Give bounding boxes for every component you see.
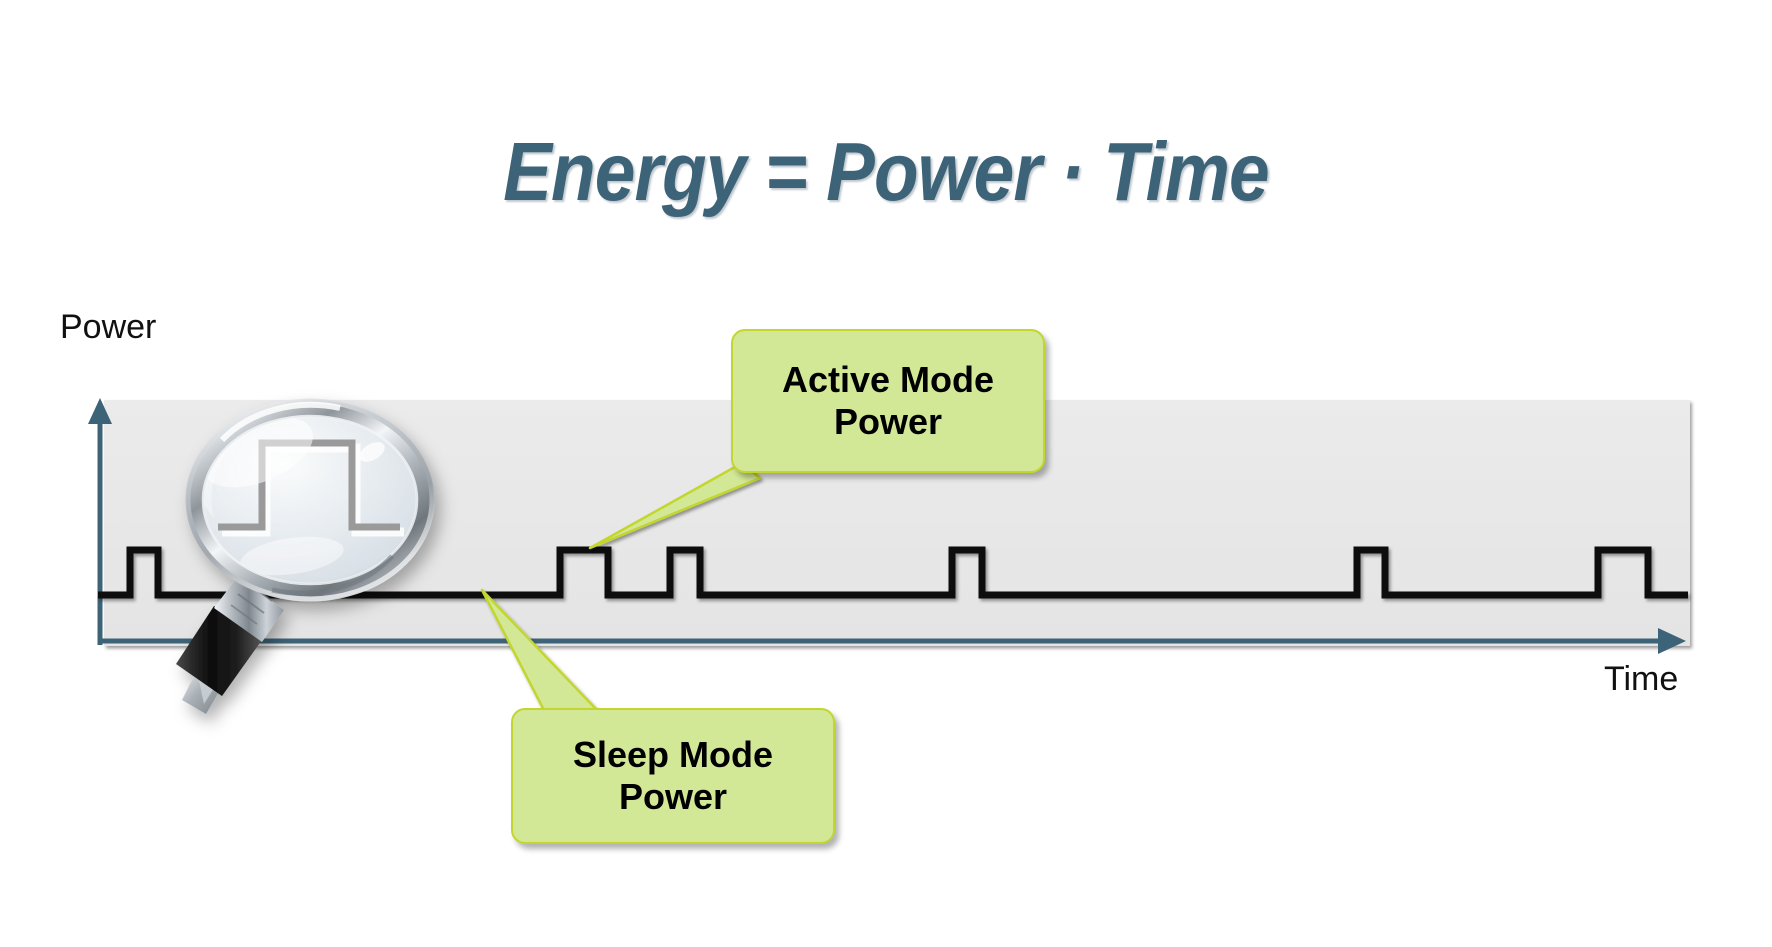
power-time-chart (0, 0, 1772, 947)
callout-sleep-label: Sleep Mode Power (513, 734, 833, 819)
callout-active-mode-power[interactable]: Active Mode Power (731, 329, 1045, 473)
callout-sleep-mode-power[interactable]: Sleep Mode Power (511, 708, 835, 844)
magnifying-glass[interactable] (176, 401, 432, 714)
slide-canvas: Energy = Power · Time Power Time (0, 0, 1772, 947)
callout-active-label: Active Mode Power (733, 359, 1043, 444)
